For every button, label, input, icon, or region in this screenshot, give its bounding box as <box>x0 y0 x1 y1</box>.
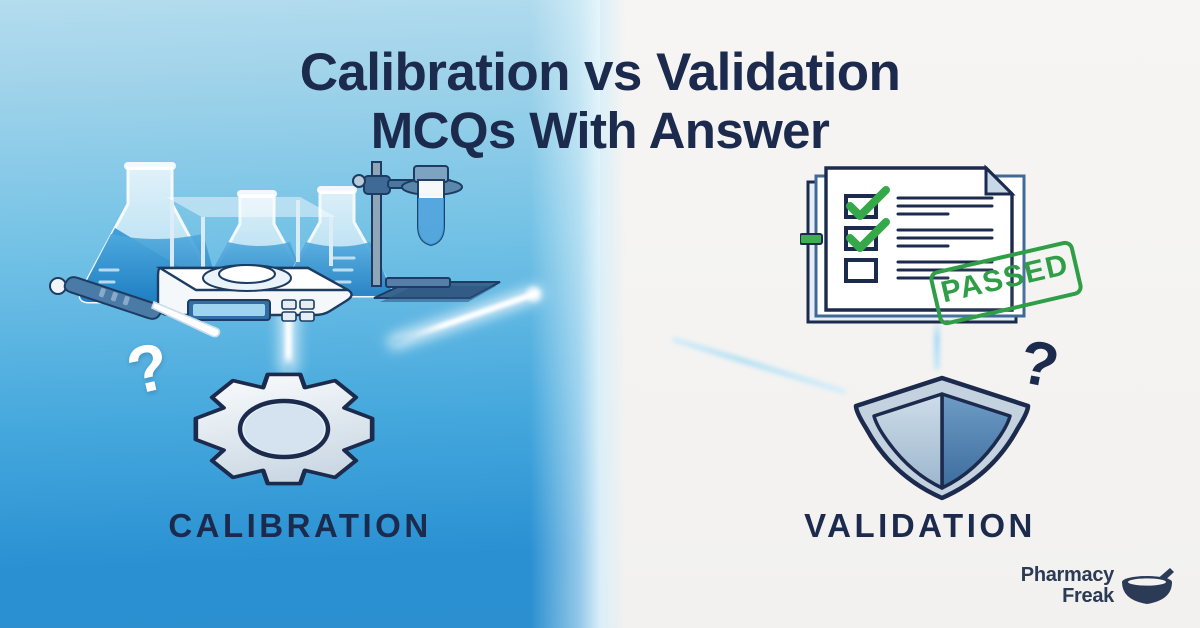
brand-name-line-2: Freak <box>1062 586 1114 607</box>
infographic-canvas: Calibration vs Validation MCQs With Answ… <box>0 0 1200 628</box>
brand-logo[interactable]: Pharmacy Freak <box>988 558 1176 614</box>
question-mark-right: ? <box>1002 325 1076 406</box>
title-line-1: Calibration vs Validation <box>0 44 1200 102</box>
caption-validation: VALIDATION <box>680 506 1160 546</box>
mortar-and-pestle-icon <box>1120 564 1176 608</box>
brand-logo-text: Pharmacy Freak <box>1021 565 1114 607</box>
retort-stand-with-test-tube <box>353 162 500 302</box>
brand-name-line-1: Pharmacy <box>1021 565 1114 586</box>
caption-calibration: CALIBRATION <box>60 506 540 546</box>
page-title: Calibration vs Validation MCQs With Answ… <box>0 44 1200 160</box>
gear-icon <box>168 358 400 500</box>
title-line-2: MCQs With Answer <box>0 102 1200 160</box>
lab-equipment-illustration <box>42 150 512 340</box>
